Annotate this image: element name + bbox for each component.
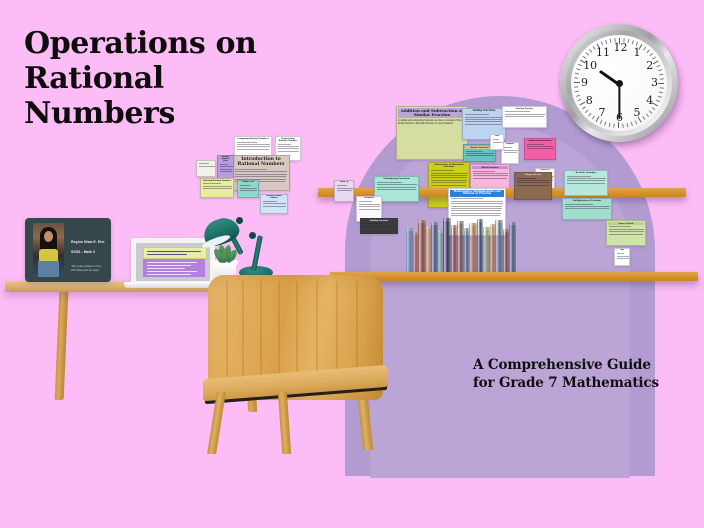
- card-title: Notes: [492, 136, 502, 138]
- card-filler-line: [337, 190, 352, 191]
- card-title: Representing Rational Numbers: [277, 138, 299, 142]
- card-filler-line: [337, 185, 347, 186]
- clock-numeral-11: 11: [596, 47, 607, 58]
- clock-tick: [575, 73, 579, 75]
- clock-numeral-12: 12: [614, 42, 625, 53]
- card-title: Mathematics Multiplication and Division …: [450, 190, 504, 197]
- card-title: Subtracting Fractions: [526, 140, 554, 142]
- card-filler-line: [517, 178, 537, 179]
- card-filler-line: [527, 148, 554, 149]
- card-white-small-2[interactable]: Notes: [490, 134, 504, 150]
- card-filler-line: [237, 142, 257, 143]
- card-title: Chapter Review: [516, 174, 550, 176]
- card-filler-line: [237, 146, 270, 147]
- clock-tick: [653, 61, 659, 65]
- card-addition-subtraction-similar-fractions[interactable]: Addition and Subtraction of Similar Frac…: [396, 106, 468, 160]
- card-title: Comparing Rational Numbers: [236, 138, 270, 140]
- card-filler-line: [466, 155, 494, 156]
- book-17: [509, 222, 516, 272]
- book-5: [431, 222, 438, 272]
- card-filler-line: [505, 116, 544, 117]
- card-filler-line: [237, 144, 270, 145]
- subtitle-line-2: for Grade 7 Mathematics: [473, 375, 698, 393]
- card-filler-line: [505, 111, 530, 112]
- card-filler-line: [240, 190, 257, 191]
- clock-tick: [589, 49, 592, 53]
- card-filler-line: [278, 146, 299, 147]
- card-title: Addition and Subtraction of Similar Frac…: [398, 108, 466, 118]
- tablet-course-line: SSSS - Math 2: [71, 250, 95, 255]
- card-filler-line: [565, 206, 610, 207]
- card-colorful-blocks[interactable]: [196, 160, 216, 177]
- card-filler-line: [565, 204, 593, 205]
- card-filler-line: [465, 121, 503, 122]
- card-filler-line: [220, 164, 228, 165]
- card-blue-eye[interactable]: Dividing Rational Numbers: [260, 194, 288, 214]
- card-filler-line: [465, 119, 503, 120]
- laptop-header-line: [147, 254, 187, 255]
- laptop-slide-body: [143, 259, 205, 277]
- clock-tick: [586, 52, 590, 55]
- book-9: [457, 221, 464, 272]
- clock-tick: [574, 77, 578, 78]
- card-filler-line: [359, 209, 380, 210]
- laptop-screen-inner: [136, 243, 210, 281]
- book-15: [495, 220, 503, 272]
- card-filler-line: [505, 114, 545, 115]
- card-title: Introduction to Rational Numbers: [234, 157, 288, 168]
- card-filler-line: [377, 182, 402, 183]
- card-filler-line: [451, 208, 502, 209]
- tablet-caption: "My every dream is this effortless will …: [71, 265, 107, 273]
- title-line-1: Operations on: [24, 26, 354, 61]
- card-filler-line: [235, 174, 287, 175]
- portrait-photo: [33, 223, 64, 277]
- card-filler-line: [504, 147, 512, 148]
- card-filler-line: [235, 171, 287, 172]
- card-green-worksheet[interactable]: Ordering Rational Numbers: [200, 178, 234, 198]
- laptop-bullet-line: [147, 265, 191, 266]
- plant-leaf: [221, 254, 227, 263]
- clock-tick: [601, 41, 604, 45]
- title-line-2: Rational: [24, 61, 354, 96]
- book-1: [406, 228, 413, 272]
- card-filler-line: [527, 144, 544, 145]
- book-row: [334, 212, 698, 272]
- card-filler-line: [263, 206, 286, 207]
- page-subtitle: A Comprehensive Guide for Grade 7 Mathem…: [473, 357, 698, 393]
- card-title: Fraction Practice: [504, 108, 545, 110]
- card-filler-line: [451, 206, 502, 207]
- laptop-base: [124, 282, 218, 288]
- card-title: Multiplying Fractions: [376, 178, 417, 181]
- card-filler-line: [493, 142, 503, 143]
- laptop-bullet-line: [147, 262, 197, 263]
- lamp-mid-joint: [249, 232, 256, 239]
- laptop-bullet-line: [147, 268, 185, 269]
- card-filler-line: [240, 185, 251, 186]
- card-filler-line: [451, 203, 503, 204]
- card-filler-line: [237, 149, 269, 150]
- card-filler-line: [203, 188, 232, 189]
- card-filler-line: [220, 169, 232, 170]
- card-title: Warm Up: [336, 182, 352, 184]
- tablet-name-line: Region Niwa E. Eim: [71, 240, 104, 245]
- card-filler-line: [504, 152, 517, 153]
- card-filler-line: [203, 186, 232, 187]
- card-teal-chart[interactable]: Number Line: [237, 180, 259, 198]
- clock-numeral-3: 3: [651, 77, 657, 88]
- card-filler-line: [377, 187, 416, 188]
- clock-tick: [643, 47, 646, 51]
- clock-tick: [576, 68, 580, 70]
- card-filler-line: [359, 204, 380, 205]
- photo-face: [44, 231, 53, 242]
- card-filler-line: [220, 171, 232, 172]
- clock-tick: [649, 53, 653, 56]
- card-title: Ordering Rational Numbers: [202, 180, 232, 182]
- card-filler-line: [517, 185, 549, 186]
- clock-tick: [660, 78, 664, 79]
- card-title: Rational Numbers Notes: [219, 157, 232, 162]
- book-11: [469, 223, 477, 272]
- card-filler-line: [517, 182, 550, 183]
- card-title: Dividing Rational Numbers: [262, 196, 286, 200]
- clock-numeral-1: 1: [634, 47, 640, 58]
- card-filler-line: [220, 166, 233, 167]
- card-filler-line: [527, 146, 554, 147]
- photo-jeans: [38, 261, 59, 277]
- clock-tick: [646, 50, 649, 54]
- book-13: [483, 227, 490, 272]
- card-filler-line: [359, 201, 372, 202]
- card-filler-line: [465, 117, 504, 118]
- page-title: Operations on Rational Numbers: [24, 26, 354, 131]
- card-filler-line: [567, 176, 591, 177]
- subtitle-line-1: A Comprehensive Guide: [473, 357, 698, 375]
- card-filler-line: [517, 180, 550, 181]
- clock-tick: [628, 39, 630, 43]
- card-filler-line: [199, 163, 209, 164]
- card-pink-highlight[interactable]: Subtracting Fractions: [524, 138, 556, 160]
- card-filler-line: [451, 201, 503, 202]
- clock-tick: [578, 64, 582, 67]
- card-worksheet-white-1[interactable]: Fraction Practice: [502, 106, 547, 128]
- card-filler-line: [203, 183, 221, 184]
- laptop-slide-header: [143, 247, 207, 259]
- clock-numeral-2: 2: [646, 60, 652, 71]
- card-filler-line: [263, 201, 277, 202]
- card-title: Number Line: [239, 182, 257, 184]
- card-filler-line: [493, 139, 499, 140]
- card-brown-board[interactable]: Chapter Review: [514, 172, 552, 200]
- title-line-3: Numbers: [24, 96, 354, 131]
- card-filler-line: [235, 176, 286, 177]
- clock-tick: [632, 40, 634, 44]
- clock-tick: [656, 65, 660, 68]
- card-filler-line: [465, 114, 489, 115]
- clock-tick: [659, 92, 663, 94]
- laptop-header-line: [147, 251, 201, 252]
- card-pale-left[interactable]: Warm Up: [334, 180, 354, 202]
- card-filler-line: [235, 169, 267, 170]
- card-filler-line: [263, 203, 286, 204]
- clock-tick: [660, 87, 664, 88]
- clock-tick: [574, 82, 580, 83]
- laptop-bullet-line: [147, 274, 191, 275]
- clock-tick: [659, 74, 663, 76]
- card-filler-line: [278, 151, 299, 152]
- clock-numeral-10: 10: [583, 60, 594, 71]
- card-title: Examples: [503, 144, 517, 146]
- chair-wood-grain: [226, 281, 228, 393]
- card-filler-line: [567, 183, 605, 184]
- card-filler-line: [567, 180, 605, 181]
- card-title: Multiplication of Fractions: [564, 200, 610, 202]
- laptop-bullet-line: [147, 271, 197, 272]
- card-body: In adding and subtracting fractions, we …: [398, 120, 466, 126]
- clock-center-cap: [616, 80, 623, 87]
- card-filler-line: [199, 166, 215, 167]
- card-filler-line: [504, 150, 518, 151]
- card-title: Reciprocal: [358, 198, 380, 200]
- clock-tick: [610, 39, 612, 43]
- card-filler-line: [359, 206, 380, 207]
- card-filler-line: [466, 151, 483, 152]
- wall-slide-cluster: Comparing Rational NumbersRepresenting R…: [196, 136, 300, 214]
- card-filler-line: [337, 188, 353, 189]
- card-title: Real-life Examples: [566, 172, 606, 174]
- card-filler-line: [377, 184, 417, 185]
- clock-tick: [574, 86, 578, 87]
- card-filler-line: [567, 178, 606, 179]
- slide-canvas: 121234567891011 Addition and Subtraction…: [0, 0, 704, 528]
- card-filler-line: [240, 188, 257, 189]
- card-filler-line: [565, 208, 609, 209]
- tablet-photo-frame[interactable]: Region Niwa E. Eim SSSS - Math 2 "My eve…: [25, 218, 111, 282]
- card-filler-line: [451, 198, 483, 199]
- clock-tick: [658, 83, 664, 84]
- clock-tick: [575, 91, 579, 93]
- card-title: Adding Fractions: [464, 110, 504, 113]
- lamp-head-joint: [236, 217, 243, 224]
- book-3: [418, 220, 426, 272]
- clock-numeral-9: 9: [581, 77, 587, 88]
- card-filler-line: [465, 124, 503, 125]
- card-filler-line: [278, 148, 299, 149]
- card-filler-line: [377, 189, 416, 190]
- clock-tick: [658, 69, 662, 71]
- clock-tick: [605, 40, 607, 44]
- card-filler-line: [278, 144, 291, 145]
- card-mint-photo-grid[interactable]: Real-life Examples: [564, 170, 608, 196]
- card-filler-line: [466, 153, 494, 154]
- shelf-bottom: [330, 272, 698, 281]
- book-7: [443, 218, 451, 272]
